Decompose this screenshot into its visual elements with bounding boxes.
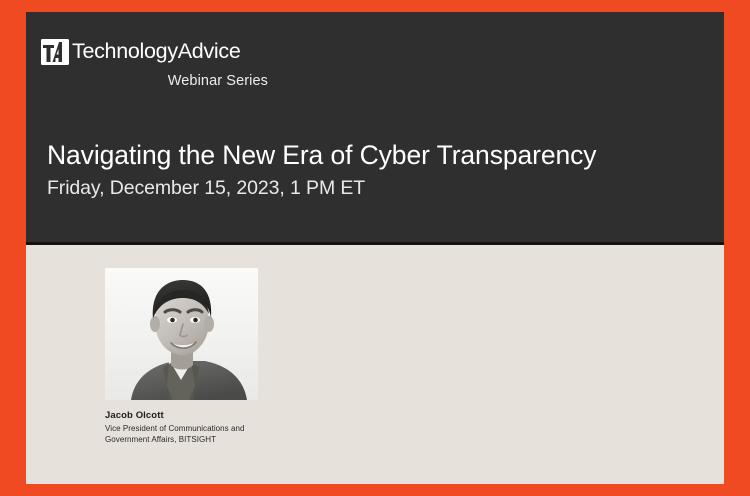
slide-body: Jacob Olcott Vice President of Communica… xyxy=(26,245,724,481)
webinar-title: Navigating the New Era of Cyber Transpar… xyxy=(47,140,704,171)
brand-lockup: TechnologyAdvice Webinar Series xyxy=(40,38,270,89)
brand-subtitle: Webinar Series xyxy=(40,73,270,89)
brand-row: TechnologyAdvice xyxy=(40,38,270,66)
speaker-card: Jacob Olcott Vice President of Communica… xyxy=(105,268,260,446)
speaker-role: Vice President of Communications and Gov… xyxy=(105,423,257,446)
slide-canvas: TechnologyAdvice Webinar Series Navigati… xyxy=(26,12,724,484)
technologyadvice-ta-monogram-icon xyxy=(40,38,70,66)
title-block: Navigating the New Era of Cyber Transpar… xyxy=(47,140,704,201)
speaker-name: Jacob Olcott xyxy=(105,410,260,422)
brand-wordmark: TechnologyAdvice xyxy=(72,41,241,63)
slide-header: TechnologyAdvice Webinar Series Navigati… xyxy=(26,12,724,245)
speaker-headshot-photo xyxy=(105,268,258,400)
webinar-slide-frame: TechnologyAdvice Webinar Series Navigati… xyxy=(0,0,750,496)
webinar-datetime: Friday, December 15, 2023, 1 PM ET xyxy=(47,177,704,200)
